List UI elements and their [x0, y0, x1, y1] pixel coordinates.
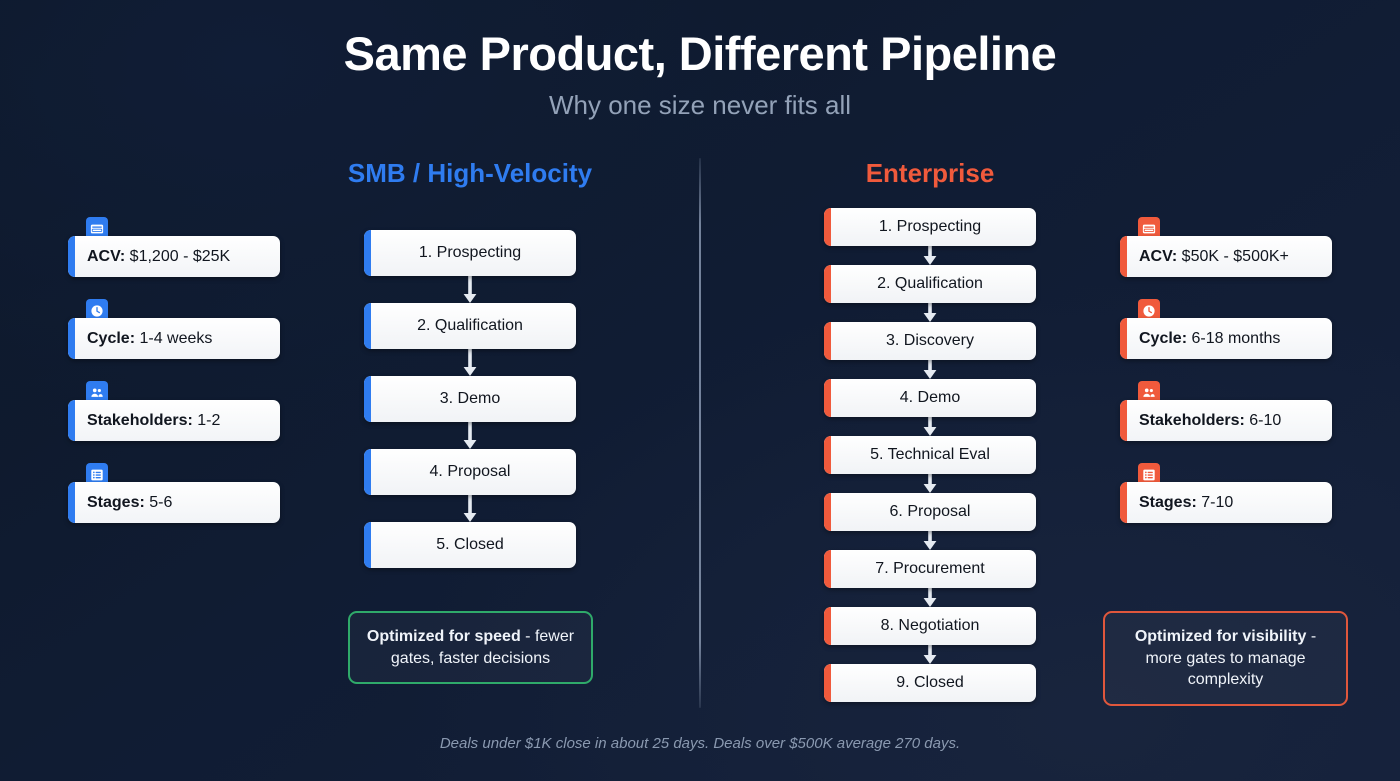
metric-card-body: Cycle: 1-4 weeks: [68, 318, 280, 359]
pipeline-stage[interactable]: 4. Proposal: [364, 449, 576, 495]
pipeline-stage[interactable]: 2. Qualification: [824, 265, 1036, 303]
callout-smb-bold: Optimized for speed: [367, 628, 521, 645]
metric-label: Stages:: [1139, 494, 1197, 511]
pipeline-stage-label: 4. Demo: [900, 389, 960, 407]
metric-value: $1,200 - $25K: [125, 248, 230, 265]
metric-label: ACV:: [87, 248, 125, 265]
metric-card: Stages: 5-6: [68, 482, 280, 523]
arrow-down-icon: [824, 360, 1036, 379]
metric-value: 1-4 weeks: [135, 330, 212, 347]
metric-value: 7-10: [1197, 494, 1233, 511]
column-divider: [699, 158, 701, 708]
enterprise-metrics-list: ACV: $50K - $500K+Cycle: 6-18 monthsStak…: [1120, 236, 1332, 564]
metric-value: 1-2: [193, 412, 221, 429]
pipeline-stage-label: 2. Qualification: [877, 275, 983, 293]
arrow-down-icon: [824, 246, 1036, 265]
metric-value: 6-10: [1245, 412, 1281, 429]
metric-card-body: Stakeholders: 1-2: [68, 400, 280, 441]
metric-label: Cycle:: [87, 330, 135, 347]
pipeline-stage[interactable]: 9. Closed: [824, 664, 1036, 702]
pipeline-stage[interactable]: 3. Discovery: [824, 322, 1036, 360]
pipeline-stage[interactable]: 4. Demo: [824, 379, 1036, 417]
metric-card-body: Stages: 7-10: [1120, 482, 1332, 523]
metric-card: Stakeholders: 1-2: [68, 400, 280, 441]
pipeline-stage[interactable]: 6. Proposal: [824, 493, 1036, 531]
metric-text: Cycle: 1-4 weeks: [87, 330, 212, 348]
metric-text: Stakeholders: 6-10: [1139, 412, 1281, 430]
pipeline-stage-label: 1. Prospecting: [419, 244, 521, 262]
metric-text: ACV: $1,200 - $25K: [87, 248, 230, 266]
metric-card: ACV: $1,200 - $25K: [68, 236, 280, 277]
metric-text: Stakeholders: 1-2: [87, 412, 220, 430]
callout-enterprise-bold: Optimized for visibility: [1135, 628, 1307, 645]
metric-card: Stakeholders: 6-10: [1120, 400, 1332, 441]
arrow-down-icon: [824, 474, 1036, 493]
metric-text: ACV: $50K - $500K+: [1139, 248, 1289, 266]
arrow-down-icon: [364, 495, 576, 522]
page-title: Same Product, Different Pipeline: [0, 28, 1400, 81]
pipeline-stage[interactable]: 3. Demo: [364, 376, 576, 422]
smb-pipeline: 1. Prospecting2. Qualification3. Demo4. …: [364, 230, 576, 568]
metric-value: 5-6: [145, 494, 173, 511]
metric-label: Stages:: [87, 494, 145, 511]
pipeline-stage[interactable]: 5. Closed: [364, 522, 576, 568]
arrow-down-icon: [824, 588, 1036, 607]
pipeline-stage-label: 6. Proposal: [890, 503, 971, 521]
metric-card-body: Stages: 5-6: [68, 482, 280, 523]
column-heading-enterprise: Enterprise: [760, 158, 1100, 189]
footer-note: Deals under $1K close in about 25 days. …: [0, 735, 1400, 752]
pipeline-stage[interactable]: 5. Technical Eval: [824, 436, 1036, 474]
pipeline-stage-label: 1. Prospecting: [879, 218, 981, 236]
callout-smb: Optimized for speed - fewer gates, faste…: [348, 611, 593, 684]
pipeline-stage-label: 5. Technical Eval: [870, 446, 990, 464]
metric-card: ACV: $50K - $500K+: [1120, 236, 1332, 277]
metric-text: Stages: 7-10: [1139, 494, 1233, 512]
enterprise-pipeline: 1. Prospecting2. Qualification3. Discove…: [824, 208, 1036, 702]
page-header: Same Product, Different Pipeline Why one…: [0, 0, 1400, 121]
pipeline-stage-label: 8. Negotiation: [881, 617, 980, 635]
pipeline-stage-label: 5. Closed: [436, 536, 504, 554]
arrow-down-icon: [364, 276, 576, 303]
pipeline-stage-label: 7. Procurement: [875, 560, 984, 578]
pipeline-stage-label: 4. Proposal: [430, 463, 511, 481]
metric-text: Cycle: 6-18 months: [1139, 330, 1280, 348]
arrow-down-icon: [364, 422, 576, 449]
metric-card-body: Stakeholders: 6-10: [1120, 400, 1332, 441]
metric-value: 6-18 months: [1187, 330, 1280, 347]
pipeline-stage-label: 3. Discovery: [886, 332, 974, 350]
arrow-down-icon: [824, 303, 1036, 322]
metric-label: Stakeholders:: [1139, 412, 1245, 429]
arrow-down-icon: [824, 531, 1036, 550]
pipeline-stage-label: 3. Demo: [440, 390, 500, 408]
pipeline-stage-label: 2. Qualification: [417, 317, 523, 335]
metric-card-body: ACV: $50K - $500K+: [1120, 236, 1332, 277]
page-subtitle: Why one size never fits all: [0, 90, 1400, 121]
callout-enterprise: Optimized for visibility - more gates to…: [1103, 611, 1348, 706]
metric-text: Stages: 5-6: [87, 494, 172, 512]
pipeline-stage-label: 9. Closed: [896, 674, 964, 692]
pipeline-stage[interactable]: 1. Prospecting: [364, 230, 576, 276]
metric-card: Cycle: 6-18 months: [1120, 318, 1332, 359]
column-heading-smb: SMB / High-Velocity: [300, 158, 640, 189]
metric-card: Stages: 7-10: [1120, 482, 1332, 523]
arrow-down-icon: [824, 645, 1036, 664]
metric-card-body: ACV: $1,200 - $25K: [68, 236, 280, 277]
pipeline-stage[interactable]: 1. Prospecting: [824, 208, 1036, 246]
pipeline-stage[interactable]: 2. Qualification: [364, 303, 576, 349]
metric-card: Cycle: 1-4 weeks: [68, 318, 280, 359]
pipeline-stage[interactable]: 8. Negotiation: [824, 607, 1036, 645]
arrow-down-icon: [824, 417, 1036, 436]
metric-value: $50K - $500K+: [1177, 248, 1289, 265]
smb-metrics-list: ACV: $1,200 - $25KCycle: 1-4 weeksStakeh…: [68, 236, 280, 564]
metric-label: Cycle:: [1139, 330, 1187, 347]
metric-card-body: Cycle: 6-18 months: [1120, 318, 1332, 359]
metric-label: Stakeholders:: [87, 412, 193, 429]
pipeline-stage[interactable]: 7. Procurement: [824, 550, 1036, 588]
metric-label: ACV:: [1139, 248, 1177, 265]
arrow-down-icon: [364, 349, 576, 376]
